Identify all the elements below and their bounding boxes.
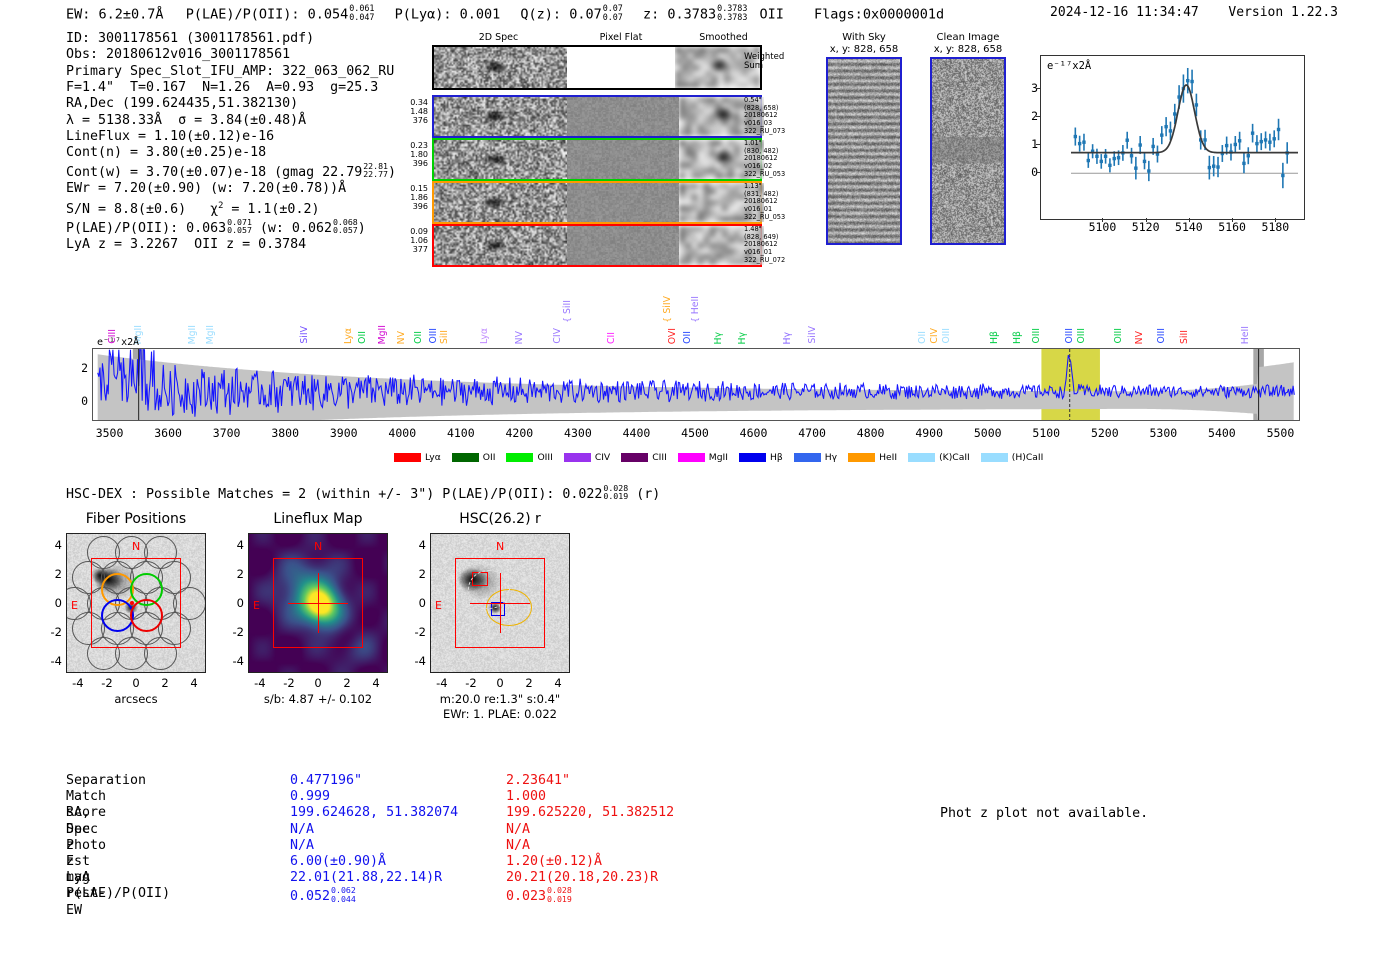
east-label: E xyxy=(71,599,78,612)
legend-label: OIII xyxy=(537,452,552,463)
spec2d-row xyxy=(432,181,762,224)
legend-label: Lyα xyxy=(425,452,441,463)
header-plae-label: P(LAE)/P(OII): xyxy=(186,6,300,22)
match-table-value: 199.624628, 51.382074 xyxy=(290,805,458,821)
emission-line-label: NV xyxy=(514,331,525,344)
image-panel-0: Fiber PositionsNE-4-2024420-2-4arcsecs xyxy=(66,533,206,673)
image-panel-title: HSC(26.2) r xyxy=(430,511,570,527)
panel-ytick: 0 xyxy=(226,596,244,610)
legend-swatch xyxy=(739,453,766,462)
lineplot-ytick-mark xyxy=(1036,144,1040,145)
panel-xtick: 0 xyxy=(496,676,503,690)
emission-line-label: HeII xyxy=(690,296,701,314)
image-panel-1: Lineflux MapNE-4-2024420-2-4s/b: 4.87 +/… xyxy=(248,533,388,673)
legend-swatch xyxy=(848,453,875,462)
info-lambda: λ = 5138.33Å σ = 3.84(±0.48)Å xyxy=(66,113,396,129)
legend-item: CIII xyxy=(621,452,667,463)
spectrum-xtick: 3800 xyxy=(271,426,299,440)
match-table-value: 6.00(±0.90)Å xyxy=(290,854,386,870)
emission-line-label: OIII xyxy=(428,328,439,344)
version: Version 1.22.3 xyxy=(1228,5,1338,20)
legend-label: (K)CaII xyxy=(939,452,970,463)
panel-ytick: 4 xyxy=(408,538,426,552)
panel-ytick: -4 xyxy=(408,654,426,668)
match-table-value: 0.477196" xyxy=(290,773,362,789)
panel-ytick: 2 xyxy=(226,567,244,581)
spec2d-row-stats: 0.151.86396 xyxy=(402,184,428,212)
info-primary-spec: Primary Spec_Slot_IFU_AMP: 322_063_062_R… xyxy=(66,64,396,80)
panel-xtick: 2 xyxy=(161,676,168,690)
lineplot-xtick-mark xyxy=(1102,218,1103,222)
lineplot-xtick: 5120 xyxy=(1132,220,1160,234)
spec2d-2dspec-image xyxy=(434,226,567,265)
legend-item: CIV xyxy=(564,452,610,463)
spec2d-col-title-1: Pixel Flat xyxy=(565,32,677,43)
image-panel-title: Lineflux Map xyxy=(248,511,388,527)
cutout-title-text: With Sky xyxy=(804,32,924,44)
cutout-image-0 xyxy=(826,57,902,245)
panel-ytick: 2 xyxy=(408,567,426,581)
legend-label: Hγ xyxy=(825,452,837,463)
spectrum-xtick: 4700 xyxy=(798,426,826,440)
header-z-label: z: xyxy=(643,6,659,22)
emission-line-label: SiII xyxy=(562,300,573,314)
legend-swatch xyxy=(908,453,935,462)
hsc-dex-summary: HSC-DEX : Possible Matches = 2 (within +… xyxy=(66,484,660,502)
match-table-value: 1.000 xyxy=(506,789,546,805)
header-plya-value: 0.001 xyxy=(460,6,501,22)
match-table-value: 0.999 xyxy=(290,789,330,805)
spectrum-y-axis: 02 xyxy=(62,348,88,421)
legend-swatch xyxy=(564,453,591,462)
emission-line-label: Hγ xyxy=(737,332,748,345)
emission-line-label: CII xyxy=(606,332,617,344)
panel-ytick: 4 xyxy=(44,538,62,552)
panel-xtick: 2 xyxy=(525,676,532,690)
north-label: N xyxy=(314,540,322,553)
full-spectrum-plot: e⁻¹⁷x2Å xyxy=(92,348,1300,421)
cutout-title-1: Clean Imagex, y: 828, 658 xyxy=(908,32,1028,56)
spectrum-xtick: 5300 xyxy=(1149,426,1177,440)
panel-xtick: 4 xyxy=(554,676,561,690)
cutout-coords-text: x, y: 828, 658 xyxy=(804,44,924,56)
spectrum-xtick: 3500 xyxy=(96,426,124,440)
hsc-plae-range: 0.0280.019 xyxy=(603,484,628,501)
panel-ytick: -2 xyxy=(44,625,62,639)
legend-item: MgII xyxy=(678,452,728,463)
emission-line-label: OIII xyxy=(1113,328,1124,344)
emission-line-label: OIII xyxy=(941,328,952,344)
mainspec-unit-label: e⁻¹⁷x2Å xyxy=(97,337,139,348)
match-table-value: N/A xyxy=(506,838,530,854)
spectrum-xtick: 4200 xyxy=(506,426,534,440)
north-label: N xyxy=(132,540,140,553)
weighted-sum-label: WeightedSum xyxy=(744,53,784,71)
spec2d-row-meta: 0.54"(828, 658)20180612v016_03322_RU_073 xyxy=(744,97,785,136)
emission-line-label: CIV xyxy=(929,328,940,344)
header-z-value: 0.3783 xyxy=(667,6,716,22)
legend-label: HeII xyxy=(879,452,897,463)
lineplot-xtick: 5160 xyxy=(1218,220,1246,234)
timestamp: 2024-12-16 11:34:47 xyxy=(1050,5,1199,20)
spec2d-2dspec-image xyxy=(434,97,567,136)
emission-line-label: NV xyxy=(1134,331,1145,344)
match-table-value: 199.625220, 51.382512 xyxy=(506,805,674,821)
spec2d-row-stats: 0.341.48376 xyxy=(402,98,428,126)
photz-note: Phot z plot not available. xyxy=(940,806,1148,821)
spectrum-xtick: 5500 xyxy=(1267,426,1295,440)
legend-item: OIII xyxy=(506,452,552,463)
panel-xtick: 4 xyxy=(372,676,379,690)
emission-line-label: Lyα xyxy=(479,328,490,344)
header-plae-range: 0.0610.047 xyxy=(349,4,374,21)
spectrum-ytick: 0 xyxy=(81,394,88,408)
legend-label: MgII xyxy=(709,452,728,463)
panel-xtick: 2 xyxy=(343,676,350,690)
header-qz-label: Q(z): xyxy=(520,6,561,22)
match-table-value: N/A xyxy=(290,822,314,838)
spectrum-legend: LyαOIIOIIICIVCIIIMgIIHβHγHeII(K)CaII(H)C… xyxy=(394,452,1054,463)
emission-line-label: SiIV xyxy=(807,326,818,344)
info-cont-w: Cont(w) = 3.70(±0.07)e-18 (gmag 22.7922.… xyxy=(66,162,396,182)
emission-line-label: SiII xyxy=(1179,330,1190,344)
source-info-block: ID: 3001178561 (3001178561.pdf) Obs: 201… xyxy=(66,31,396,254)
spec2d-row-meta: 1.13"(831, 482)20180612v016_01322_RU_053 xyxy=(744,183,785,222)
match-table-value: 0.0230.0280.019 xyxy=(506,886,572,905)
spectrum-xtick: 4000 xyxy=(388,426,416,440)
emission-line-label: Hβ xyxy=(989,331,1000,344)
lineplot-ytick-mark xyxy=(1036,88,1040,89)
legend-item: Hβ xyxy=(739,452,783,463)
spectrum-xtick: 3900 xyxy=(330,426,358,440)
panel-ytick: -2 xyxy=(226,625,244,639)
panel-ytick: 0 xyxy=(44,596,62,610)
panel-xtick: -4 xyxy=(254,676,265,690)
spectrum-xtick: 4400 xyxy=(623,426,651,440)
legend-item: HeII xyxy=(848,452,897,463)
spec2d-pixelflat-image xyxy=(567,226,679,265)
panel-caption: m:20.0 re:1.3" s:0.4" xyxy=(430,692,570,706)
image-panel-frame: NE xyxy=(248,533,388,673)
panel-caption: s/b: 4.87 +/- 0.102 xyxy=(248,692,388,706)
spec2d-2dspec-image xyxy=(434,47,567,88)
lineplot-ytick-mark xyxy=(1036,172,1040,173)
header-plya-label: P(Lyα): xyxy=(395,6,452,22)
legend-label: (H)CaII xyxy=(1012,452,1044,463)
spec2d-row-meta: 1.48"(828, 649)20180612v016_01322_RU_072 xyxy=(744,226,785,265)
match-table-value: 22.01(21.88,22.14)R xyxy=(290,870,442,886)
legend-label: OII xyxy=(483,452,496,463)
spectrum-xtick: 4800 xyxy=(857,426,885,440)
hsc-text-post: (r) xyxy=(636,487,660,502)
emission-line-label: SiIV xyxy=(662,296,673,314)
panel-xtick: 0 xyxy=(314,676,321,690)
info-plae-w-range: 0.0680.057 xyxy=(333,218,358,235)
emission-line-label: CIV xyxy=(552,328,563,344)
info-radec: RA,Dec (199.624435,51.382130) xyxy=(66,96,396,112)
emission-line-brace: { xyxy=(563,317,573,323)
info-sn-chi2: S/N = 8.8(±0.6) χ2 = 1.1(±0.2) xyxy=(66,198,396,218)
match-table-value: 0.0520.0620.044 xyxy=(290,886,356,905)
lineplot-xtick: 5180 xyxy=(1262,220,1290,234)
legend-label: Hβ xyxy=(770,452,783,463)
spec2d-row-stats: 0.231.80396 xyxy=(402,141,428,169)
emission-line-label: SiIV xyxy=(299,326,310,344)
header-z-type: OII xyxy=(760,6,784,22)
spectrum-xtick: 4600 xyxy=(740,426,768,440)
legend-swatch xyxy=(621,453,648,462)
emission-line-label: OIII xyxy=(1156,328,1167,344)
info-plae: P(LAE)/P(OII): 0.0630.0710.057 (w: 0.062… xyxy=(66,218,396,238)
spectrum-xtick: 3700 xyxy=(213,426,241,440)
footprint-box xyxy=(91,558,181,648)
emission-line-label: OVI xyxy=(667,328,678,344)
emission-line-label: OIII xyxy=(1076,328,1087,344)
spectrum-xtick: 4900 xyxy=(915,426,943,440)
lineplot-xtick-mark xyxy=(1146,218,1147,222)
emission-line-label: OII xyxy=(682,331,693,344)
spec2d-row xyxy=(432,224,762,267)
emission-line-label: Hγ xyxy=(713,332,724,345)
spec2d-pixelflat-image xyxy=(567,183,679,222)
match-table-value: 2.23641" xyxy=(506,773,570,789)
lineplot-ytick-mark xyxy=(1036,116,1040,117)
cutout-coords-text: x, y: 828, 658 xyxy=(908,44,1028,56)
spec2d-col-title-2: Smoothed xyxy=(677,32,770,43)
legend-swatch xyxy=(506,453,533,462)
legend-item: Lyα xyxy=(394,452,441,463)
panel-xtick: -4 xyxy=(436,676,447,690)
match-table-label: P(LAE)/P(OII) xyxy=(66,886,170,902)
east-label: E xyxy=(435,599,442,612)
panel-ytick: -2 xyxy=(408,625,426,639)
spec2d-row xyxy=(432,95,762,138)
lineplot-xtick-mark xyxy=(1189,218,1190,222)
spectrum-xtick: 5000 xyxy=(974,426,1002,440)
emission-line-label: SiII xyxy=(439,330,450,344)
lineplot-xtick: 5140 xyxy=(1175,220,1203,234)
info-plae-range: 0.0710.057 xyxy=(227,218,252,235)
cutout-title-text: Clean Image xyxy=(908,32,1028,44)
spectrum-xtick: 5200 xyxy=(1091,426,1119,440)
emission-line-label: NV xyxy=(396,331,407,344)
lineplot-xtick: 5100 xyxy=(1089,220,1117,234)
match-table-value: N/A xyxy=(506,822,530,838)
panel-ytick: -4 xyxy=(44,654,62,668)
emission-line-label: OII xyxy=(413,331,424,344)
crosshair-vertical xyxy=(500,573,501,634)
header-ew: EW: 6.2±0.7Å xyxy=(66,6,164,22)
legend-swatch xyxy=(981,453,1008,462)
legend-label: CIV xyxy=(595,452,610,463)
crosshair-vertical xyxy=(318,573,319,634)
mainspec-svg xyxy=(93,349,1299,420)
info-id: ID: 3001178561 (3001178561.pdf) xyxy=(66,31,396,47)
match-table-value: N/A xyxy=(290,838,314,854)
east-label: E xyxy=(253,599,260,612)
legend-item: Hγ xyxy=(794,452,837,463)
emission-line-label: MgII xyxy=(205,325,216,344)
header-qz-range: 0.070.07 xyxy=(603,4,623,21)
north-label: N xyxy=(496,540,504,553)
legend-item: (H)CaII xyxy=(981,452,1044,463)
spec2d-row-meta: 1.01"(830, 482)20180612v016_02322_RU_053 xyxy=(744,140,785,179)
emission-line-label: OIII xyxy=(1064,328,1075,344)
emission-line-zoom-plot: e⁻¹⁷x2Å xyxy=(1040,55,1305,220)
spectrum-xtick: 3600 xyxy=(154,426,182,440)
header-plae-value: 0.054 xyxy=(308,6,349,22)
lineplot-svg xyxy=(1041,56,1304,219)
panel-xtick: 4 xyxy=(190,676,197,690)
panel-xtick: -2 xyxy=(465,676,476,690)
spec2d-row-stats: 0.091.06377 xyxy=(402,227,428,255)
emission-line-label: HeII xyxy=(1240,326,1251,344)
legend-swatch xyxy=(794,453,821,462)
match-table-value: 20.21(20.18,20.23)R xyxy=(506,870,658,886)
emission-line-label: MgII xyxy=(377,325,388,344)
header-qz-value: 0.07 xyxy=(569,6,602,22)
header-summary-line: EW: 6.2±0.7Å P(LAE)/P(OII): 0.0540.0610.… xyxy=(66,4,944,22)
legend-swatch xyxy=(678,453,705,462)
spec2d-row xyxy=(432,45,762,90)
spectrum-xtick: 4100 xyxy=(447,426,475,440)
cutout-image-1 xyxy=(930,57,1006,245)
image-panel-2: HSC(26.2) rNE-4-2024420-2-4m:20.0 re:1.3… xyxy=(430,533,570,673)
header-z-range: 0.37830.3783 xyxy=(717,4,747,21)
hsc-text-pre: HSC-DEX : Possible Matches = 2 (within +… xyxy=(66,487,602,502)
emission-line-brace: { xyxy=(691,317,701,323)
info-obs: Obs: 20180612v016_3001178561 xyxy=(66,47,396,63)
image-panel-frame: NE xyxy=(66,533,206,673)
legend-swatch xyxy=(394,453,421,462)
emission-line-label: OII xyxy=(917,331,928,344)
spec2d-2dspec-image xyxy=(434,183,567,222)
emission-line-brace: { xyxy=(663,317,673,323)
legend-label: CIII xyxy=(652,452,667,463)
info-lineflux: LineFlux = 1.10(±0.12)e-16 xyxy=(66,129,396,145)
panel-xtick: -2 xyxy=(283,676,294,690)
header-timestamp-version: 2024-12-16 11:34:47 Version 1.22.3 xyxy=(1050,5,1338,20)
spec2d-pixelflat-image xyxy=(567,47,675,88)
match-plae-range: 0.0280.019 xyxy=(547,886,572,903)
legend-item: OII xyxy=(452,452,496,463)
match-table-value: 1.20(±0.12)Å xyxy=(506,854,602,870)
spectrum-xtick: 4500 xyxy=(681,426,709,440)
panel-caption-2: EWr: 1. PLAE: 0.022 xyxy=(430,707,570,721)
cutout-title-0: With Skyx, y: 828, 658 xyxy=(804,32,924,56)
lineplot-xtick-mark xyxy=(1232,218,1233,222)
panel-caption: arcsecs xyxy=(66,692,206,706)
legend-swatch xyxy=(452,453,479,462)
lineplot-xtick-mark xyxy=(1275,218,1276,222)
spectrum-x-axis: 3500360037003800390040004100420043004400… xyxy=(92,424,1300,442)
match-table-label: mag xyxy=(66,870,90,886)
header-flags: Flags:0x0000001d xyxy=(814,6,944,22)
legend-item: (K)CaII xyxy=(908,452,970,463)
spectrum-xtick: 5400 xyxy=(1208,426,1236,440)
spec2d-col-title-0: 2D Spec xyxy=(432,32,565,43)
info-seeing: F=1.4" T=0.167 N=1.26 A=0.93 g=25.3 xyxy=(66,80,396,96)
match-plae-range: 0.0620.044 xyxy=(331,886,356,903)
match-table-label: Separation xyxy=(66,773,146,789)
spectrum-xtick: 4300 xyxy=(564,426,592,440)
emission-line-label: OIII xyxy=(1031,328,1042,344)
spec2d-pixelflat-image xyxy=(567,97,679,136)
spec2d-row xyxy=(432,138,762,181)
panel-ytick: 2 xyxy=(44,567,62,581)
panel-ytick: -4 xyxy=(226,654,244,668)
image-panel-title: Fiber Positions xyxy=(66,511,206,527)
info-gmag-range: 22.8122.77 xyxy=(363,162,388,179)
spectrum-ytick: 2 xyxy=(81,361,88,375)
spec2d-panel: 2D SpecPixel FlatSmoothedWeightedSum0.34… xyxy=(432,33,770,248)
spec2d-pixelflat-image xyxy=(567,140,679,179)
panel-xtick: -2 xyxy=(101,676,112,690)
panel-ytick: 4 xyxy=(226,538,244,552)
info-redshifts: LyA z = 3.2267 OII z = 0.3784 xyxy=(66,237,396,253)
emission-line-label: Lyα xyxy=(343,328,354,344)
emission-line-labels: CIII{MgII{MgII{MgII{SiIV{Lyα{OII{MgII{NV… xyxy=(92,282,1300,348)
emission-line-label: OII xyxy=(357,331,368,344)
emission-line-label: Hβ xyxy=(1012,331,1023,344)
info-ewr: EWr = 7.20(±0.90) (w: 7.20(±0.78))Å xyxy=(66,181,396,197)
spectrum-xtick: 5100 xyxy=(1032,426,1060,440)
panel-xtick: -4 xyxy=(72,676,83,690)
image-panel-frame: NE xyxy=(430,533,570,673)
panel-xtick: 0 xyxy=(132,676,139,690)
panel-ytick: 0 xyxy=(408,596,426,610)
emission-line-label: Hγ xyxy=(782,332,793,345)
spec2d-2dspec-image xyxy=(434,140,567,179)
emission-line-label: MgII xyxy=(187,325,198,344)
info-cont-n: Cont(n) = 3.80(±0.25)e-18 xyxy=(66,145,396,161)
